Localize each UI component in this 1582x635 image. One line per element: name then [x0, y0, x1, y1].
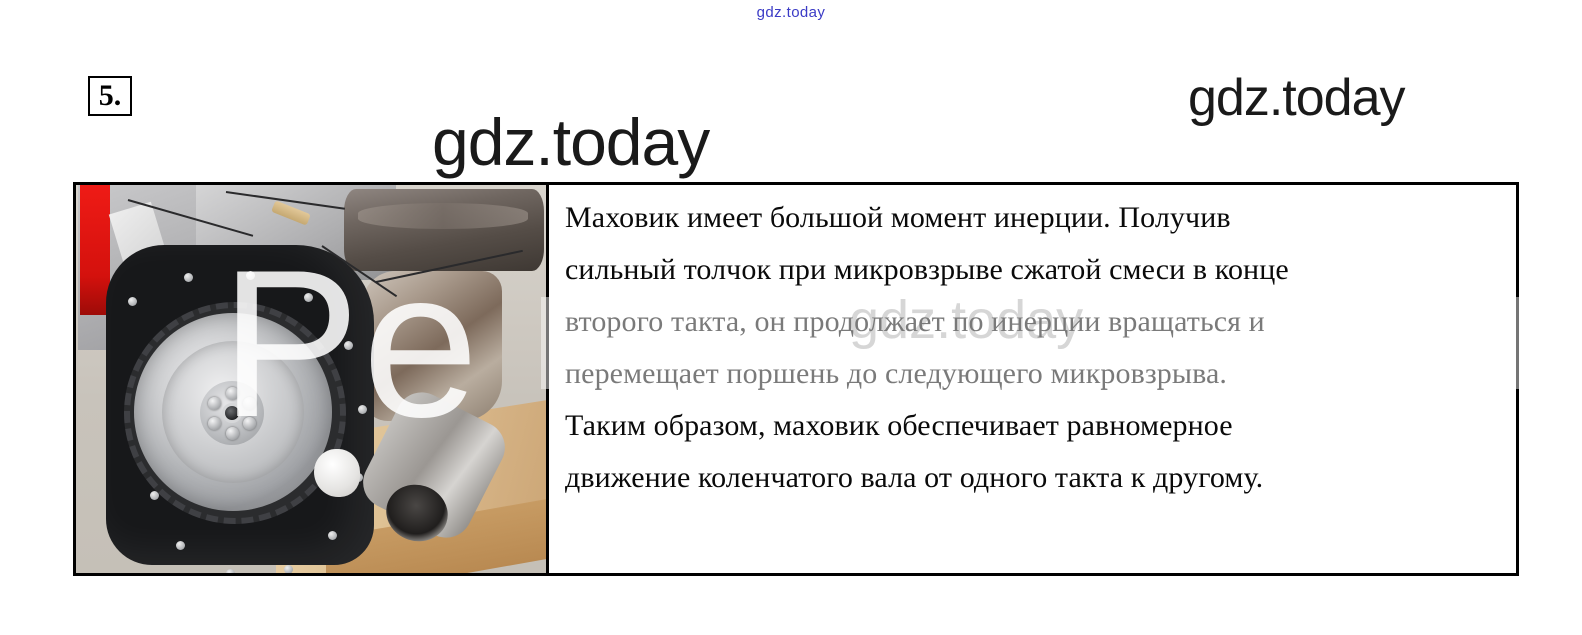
answer-line: сильный толчок при микровзрыве сжатой см…	[565, 244, 1502, 296]
photo-bellhousing-bolt	[128, 297, 137, 306]
photo-bellhousing-bolt	[284, 565, 293, 573]
answer-line: Маховик имеет большой момент инерции. По…	[565, 192, 1502, 244]
photo-watermark-text: Pe	[220, 239, 481, 449]
answer-paragraph: Маховик имеет большой момент инерции. По…	[565, 189, 1502, 504]
photo-bellhousing-bolt	[184, 273, 193, 282]
answer-line: второго такта, он продолжает по инерции …	[565, 296, 1502, 348]
answer-line: перемещает поршень до следующего микровз…	[565, 348, 1502, 400]
watermark-right-top-large: gdz.today	[1188, 68, 1405, 128]
watermark-top-center-small: gdz.today	[0, 4, 1582, 21]
table-cell-image: Pe	[76, 185, 549, 573]
photo-bellhousing-bolt	[176, 541, 185, 550]
engine-flywheel-photo: Pe	[76, 185, 546, 573]
answer-line: Таким образом, маховик обеспечивает равн…	[565, 400, 1502, 452]
exercise-number-box: 5.	[88, 76, 132, 116]
watermark-center-large: gdz.today	[432, 104, 709, 180]
answer-line: движение коленчатого вала от одного такт…	[565, 452, 1502, 504]
answer-table: Pe Маховик имеет большой момент инерции.…	[73, 182, 1519, 576]
table-cell-text: Маховик имеет большой момент инерции. По…	[549, 185, 1516, 573]
photo-bellhousing-bolt	[226, 569, 235, 573]
photo-bellhousing-bolt	[328, 531, 337, 540]
